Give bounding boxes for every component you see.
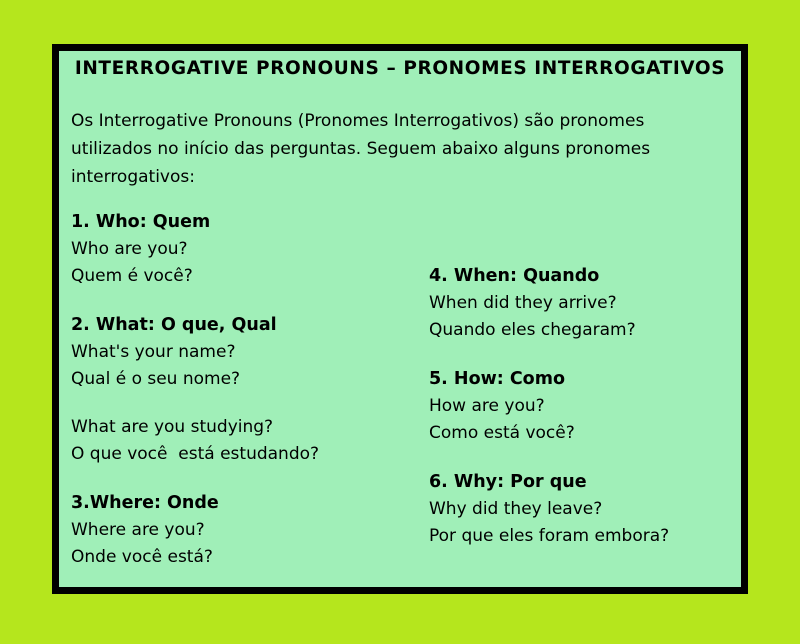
entry-example-portuguese: Qual é o seu nome? <box>71 366 421 393</box>
pronoun-column-right: 4. When: Quando When did they arrive? Qu… <box>429 263 749 550</box>
page-title: INTERROGATIVE PRONOUNS – PRONOMES INTERR… <box>59 58 741 79</box>
entry-example-english-secondary: What are you studying? <box>71 414 421 441</box>
pronoun-column-left: 1. Who: Quem Who are you? Quem é você? 2… <box>71 209 421 571</box>
entry-heading: 1. Who: Quem <box>71 209 421 236</box>
entry-example-portuguese: Como está você? <box>429 420 749 447</box>
pronoun-entry-where: 3.Where: Onde Where are you? Onde você e… <box>71 490 421 571</box>
intro-paragraph: Os Interrogative Pronouns (Pronomes Inte… <box>71 107 735 191</box>
entry-example-portuguese: Quando eles chegaram? <box>429 317 749 344</box>
entry-example-english: When did they arrive? <box>429 290 749 317</box>
entry-heading: 3.Where: Onde <box>71 490 421 517</box>
entry-example-portuguese: Quem é você? <box>71 263 421 290</box>
entry-spacer <box>71 393 421 414</box>
entry-example-portuguese: Onde você está? <box>71 544 421 571</box>
pronoun-entry-who: 1. Who: Quem Who are you? Quem é você? <box>71 209 421 290</box>
pronoun-entry-why: 6. Why: Por que Why did they leave? Por … <box>429 469 749 550</box>
intro-line-1: Os Interrogative Pronouns (Pronomes Inte… <box>71 107 735 135</box>
entry-example-english: What's your name? <box>71 339 421 366</box>
entry-example-english: Who are you? <box>71 236 421 263</box>
entry-example-english: How are you? <box>429 393 749 420</box>
pronoun-entry-what: 2. What: O que, Qual What's your name? Q… <box>71 312 421 468</box>
entry-example-english: Why did they leave? <box>429 496 749 523</box>
entry-example-english: Where are you? <box>71 517 421 544</box>
slide-content: INTERROGATIVE PRONOUNS – PRONOMES INTERR… <box>59 51 741 587</box>
pronoun-entry-when: 4. When: Quando When did they arrive? Qu… <box>429 263 749 344</box>
entry-example-portuguese: Por que eles foram embora? <box>429 523 749 550</box>
entry-example-portuguese-secondary: O que você está estudando? <box>71 441 421 468</box>
pronoun-entry-how: 5. How: Como How are you? Como está você… <box>429 366 749 447</box>
intro-line-2: utilizados no início das perguntas. Segu… <box>71 135 735 163</box>
entry-heading: 6. Why: Por que <box>429 469 749 496</box>
entry-heading: 4. When: Quando <box>429 263 749 290</box>
intro-line-3: interrogativos: <box>71 163 735 191</box>
slide-panel: INTERROGATIVE PRONOUNS – PRONOMES INTERR… <box>52 44 748 594</box>
entry-heading: 5. How: Como <box>429 366 749 393</box>
entry-heading: 2. What: O que, Qual <box>71 312 421 339</box>
